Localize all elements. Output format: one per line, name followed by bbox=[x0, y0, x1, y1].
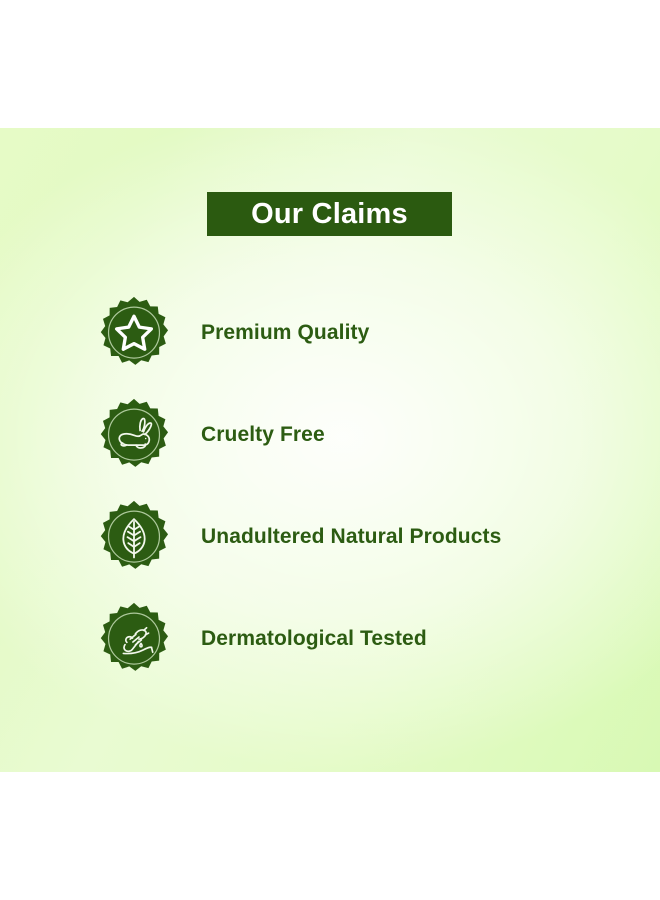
page-title: Our Claims bbox=[251, 200, 408, 229]
claim-label: Dermatological Tested bbox=[201, 627, 427, 650]
claim-label: Premium Quality bbox=[201, 321, 369, 344]
claim-label: Unadultered Natural Products bbox=[201, 525, 501, 548]
list-item: Dermatological Tested bbox=[0, 588, 660, 690]
hand-dropper-badge-icon bbox=[96, 601, 172, 677]
claim-label: Cruelty Free bbox=[201, 423, 325, 446]
star-badge-icon bbox=[96, 295, 172, 371]
list-item: Premium Quality bbox=[0, 282, 660, 384]
list-item: Unadultered Natural Products bbox=[0, 486, 660, 588]
claims-list: Premium Quality bbox=[0, 282, 660, 690]
leaf-badge-icon bbox=[96, 499, 172, 575]
claims-infographic: Our Claims Premium Quality bbox=[0, 0, 660, 900]
list-item: Cruelty Free bbox=[0, 384, 660, 486]
page-title-banner: Our Claims bbox=[207, 192, 452, 236]
rabbit-badge-icon bbox=[96, 397, 172, 473]
